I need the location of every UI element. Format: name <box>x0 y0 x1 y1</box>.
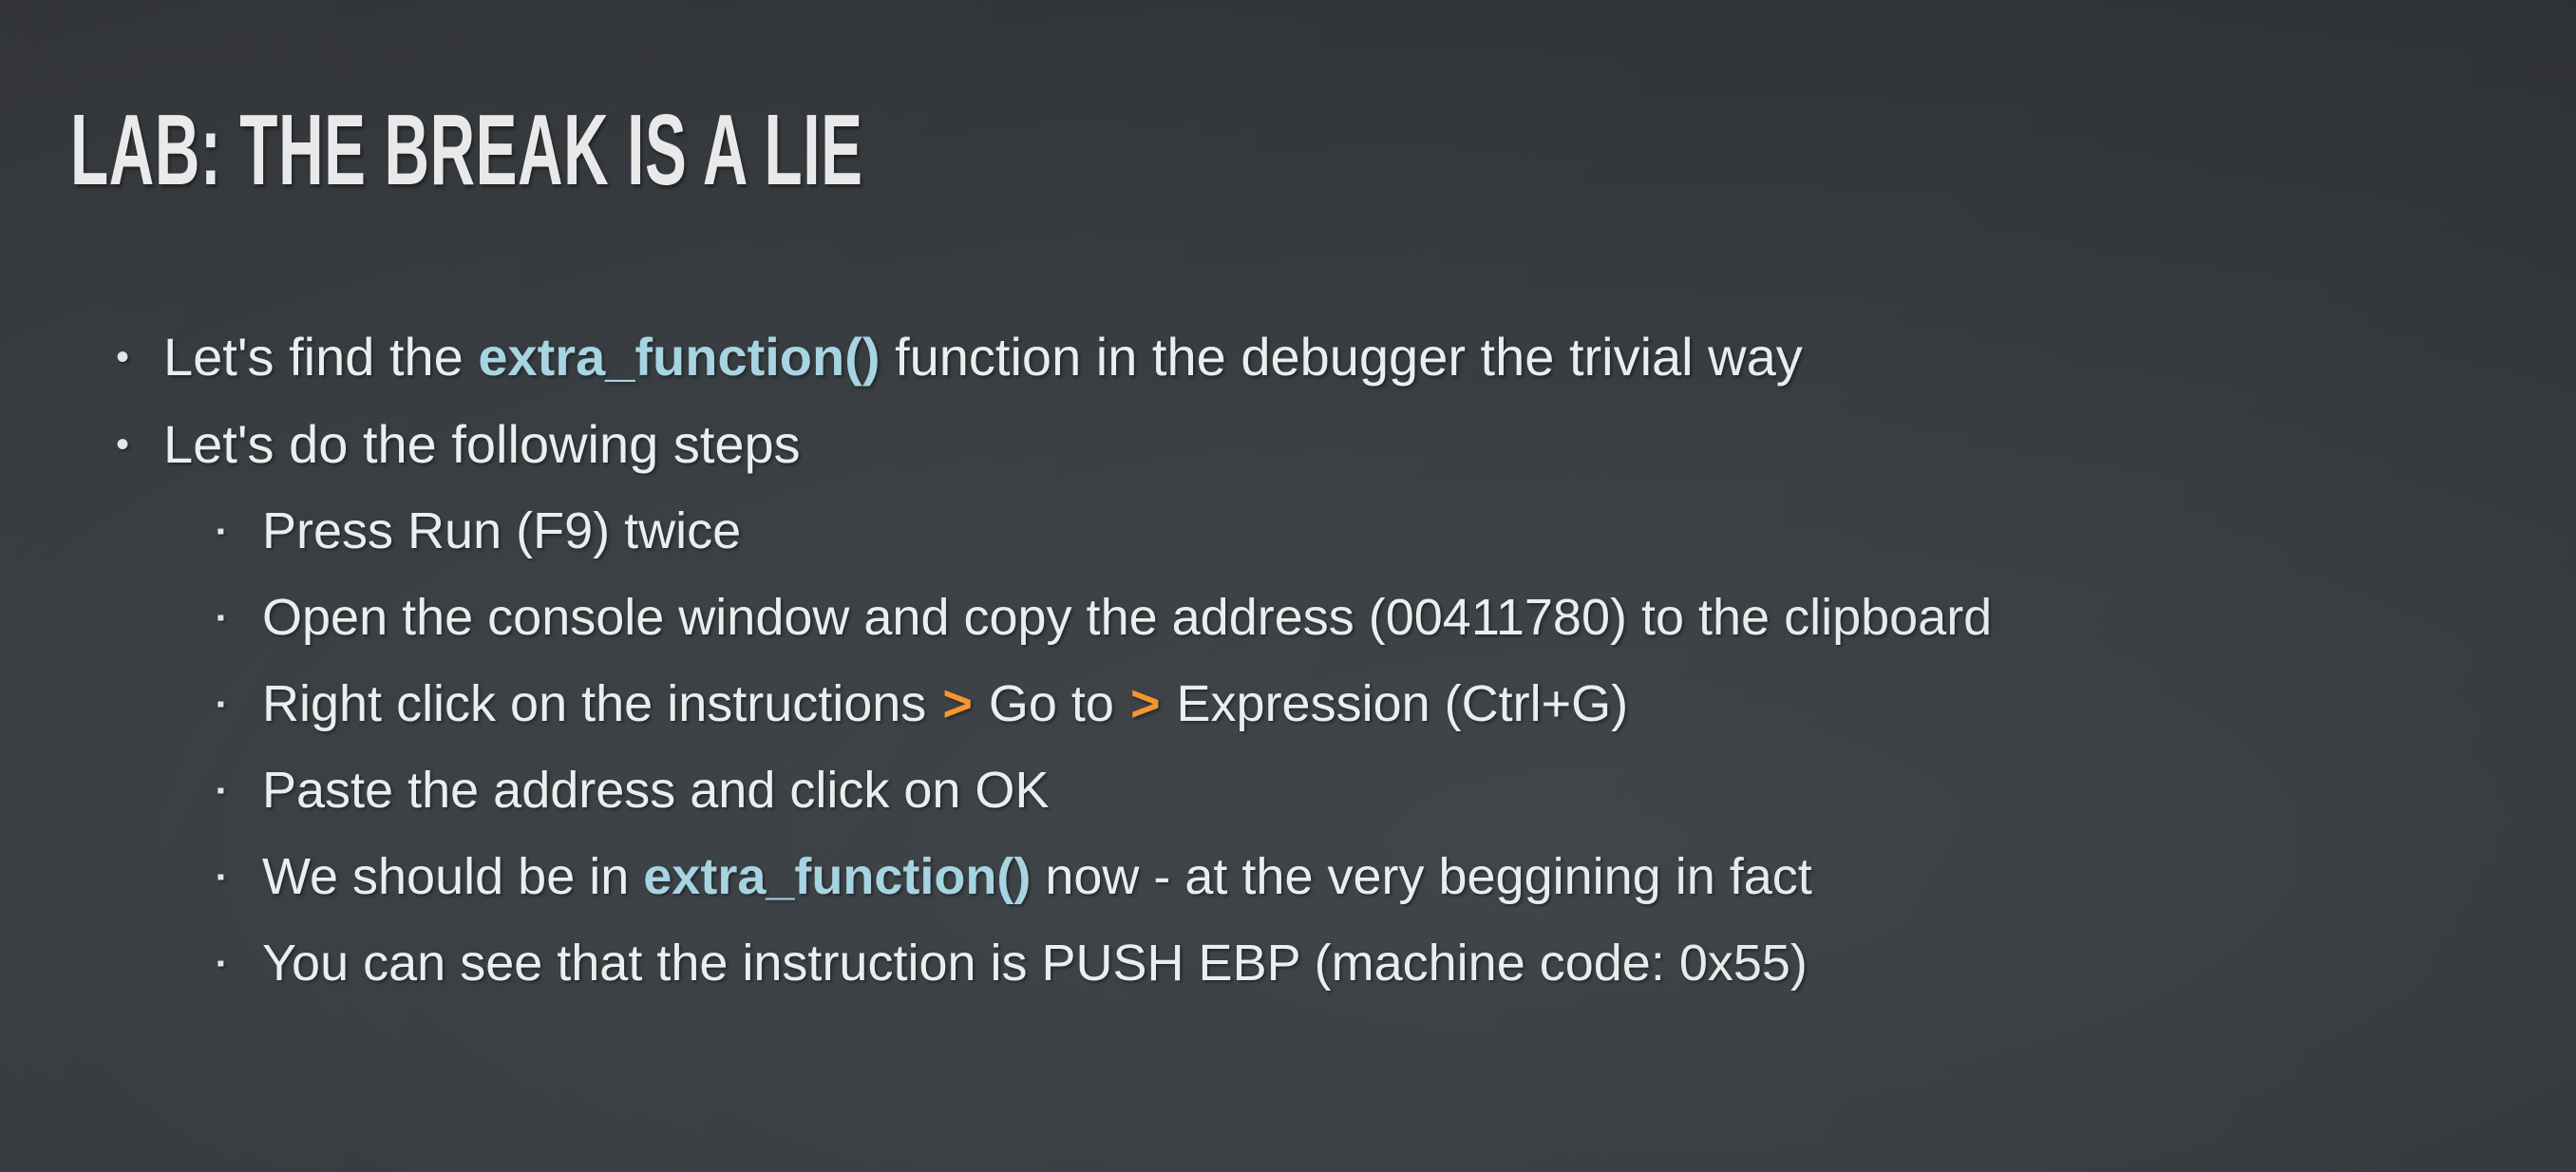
text-run: Let's find the <box>163 327 478 387</box>
bullet-text: Open the console window and copy the add… <box>262 575 1992 661</box>
slide-title: Lab: The break is a lie <box>70 100 863 200</box>
square-bullet-icon: ▪ <box>217 953 262 975</box>
bullet-list: •Let's find the extra_function() functio… <box>0 313 2576 1007</box>
text-run: We should be in <box>262 848 643 905</box>
text-run: Open the console window and copy the add… <box>262 589 1992 646</box>
slide-canvas: Lab: The break is a lie •Let's find the … <box>0 0 2576 1172</box>
text-run: Go to <box>975 675 1128 732</box>
bullet-item: ▪Right click on the instructions > Go to… <box>0 661 2576 747</box>
bullet-text: Paste the address and click on OK <box>262 747 1049 834</box>
bullet-item: ▪You can see that the instruction is PUS… <box>0 920 2576 1007</box>
bullet-text: You can see that the instruction is PUSH… <box>262 920 1808 1007</box>
square-bullet-icon: ▪ <box>217 866 262 889</box>
menu-path-separator-icon: > <box>1128 675 1163 732</box>
square-bullet-icon: ▪ <box>217 693 262 716</box>
bullet-item: ▪We should be in extra_function() now - … <box>0 834 2576 920</box>
bullet-item: ▪Open the console window and copy the ad… <box>0 575 2576 661</box>
text-run: Right click on the instructions <box>262 675 940 732</box>
text-run: Paste the address and click on OK <box>262 762 1049 819</box>
code-highlight: extra_function() <box>478 327 880 387</box>
bullet-text: Right click on the instructions > Go to … <box>262 661 1628 747</box>
bullet-text: Let's do the following steps <box>163 401 801 488</box>
bullet-text: We should be in extra_function() now - a… <box>262 834 1812 920</box>
text-run: You can see that the instruction is PUSH… <box>262 935 1808 992</box>
bullet-text: Let's find the extra_function() function… <box>163 313 1803 401</box>
bullet-item: •Let's do the following steps <box>0 401 2576 488</box>
text-run: function in the debugger the trivial way <box>881 327 1803 387</box>
bullet-text: Press Run (F9) twice <box>262 488 741 575</box>
square-bullet-icon: ▪ <box>217 607 262 630</box>
disc-bullet-icon: • <box>116 338 163 376</box>
bullet-item: ▪Press Run (F9) twice <box>0 488 2576 575</box>
text-run: Expression (Ctrl+G) <box>1163 675 1629 732</box>
bullet-item: •Let's find the extra_function() functio… <box>0 313 2576 401</box>
menu-path-separator-icon: > <box>940 675 975 732</box>
text-run: now - at the very beggining in fact <box>1031 848 1811 905</box>
disc-bullet-icon: • <box>116 425 163 463</box>
bullet-item: ▪Paste the address and click on OK <box>0 747 2576 834</box>
square-bullet-icon: ▪ <box>217 520 262 543</box>
square-bullet-icon: ▪ <box>217 780 262 803</box>
text-run: Press Run (F9) twice <box>262 502 741 559</box>
text-run: Let's do the following steps <box>163 414 801 474</box>
code-highlight: extra_function() <box>643 848 1031 905</box>
